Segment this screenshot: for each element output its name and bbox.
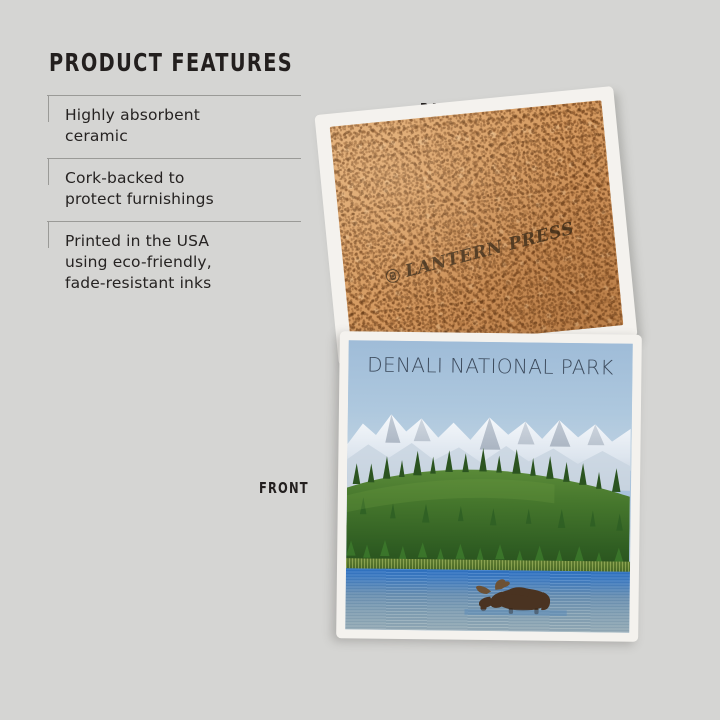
feature-text: Cork-backed to protect furnishings	[65, 168, 301, 210]
artwork-title: DENALI NATIONAL PARK	[348, 352, 632, 379]
coaster-front: DENALI NATIONAL PARK	[336, 331, 642, 642]
page-title: PRODUCT FEATURES	[49, 48, 271, 77]
label-front: FRONT	[259, 479, 309, 497]
lantern-icon	[383, 266, 401, 284]
feature-item: Cork-backed to protect furnishings	[47, 158, 301, 221]
cork-surface: LANTERN PRESS	[330, 100, 624, 352]
moose-figure	[465, 571, 568, 616]
feature-text: Highly absorbent ceramic	[65, 105, 301, 147]
feature-item: Printed in the USA using eco-friendly, f…	[47, 221, 301, 305]
lantern-press-logo: LANTERN PRESS	[382, 219, 575, 287]
feature-text: Printed in the USA using eco-friendly, f…	[65, 231, 301, 294]
product-features-panel: PRODUCT FEATURES Highly absorbent cerami…	[47, 48, 307, 305]
product-feature-graphic: PRODUCT FEATURES Highly absorbent cerami…	[0, 0, 720, 720]
coaster-artwork: DENALI NATIONAL PARK	[345, 340, 633, 632]
lantern-press-brand-text: LANTERN PRESS	[403, 219, 576, 282]
feature-item: Highly absorbent ceramic	[47, 95, 301, 158]
coaster-back: LANTERN PRESS	[314, 86, 637, 366]
